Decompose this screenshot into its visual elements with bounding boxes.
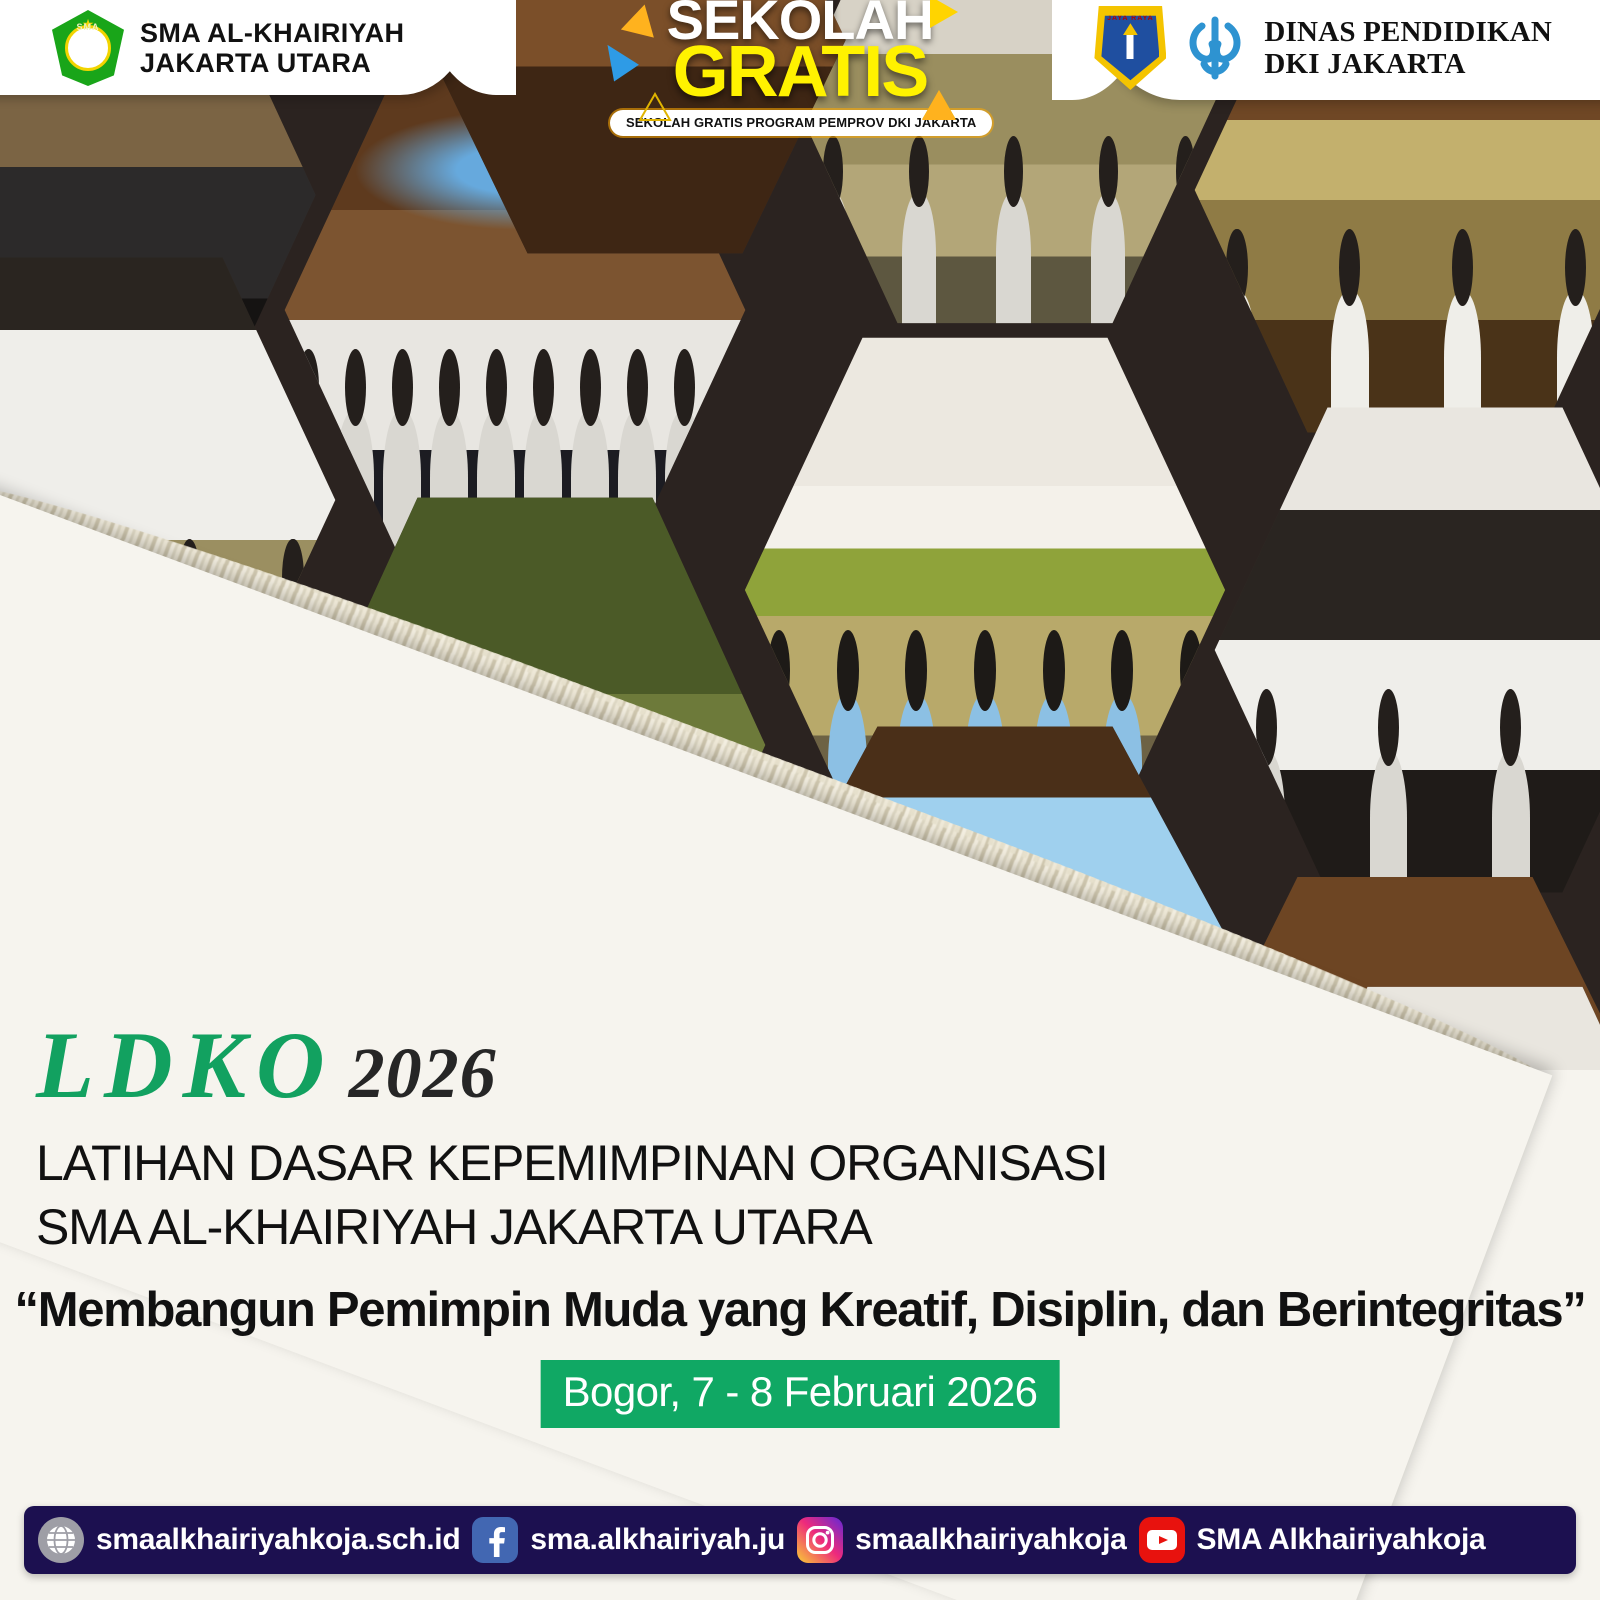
dki-shield-field: JAYA RAYA: [1101, 13, 1159, 83]
triangle-yellow-icon: [930, 0, 958, 28]
ldko-script-year: 2026: [349, 1033, 497, 1113]
facebook-label: sma.alkhairiyah.ju: [530, 1523, 785, 1557]
sekolah-gratis-lockup: SEKOLAH GRATIS SEKOLAH GRATIS PROGRAM PE…: [610, 0, 990, 136]
footer-item-website[interactable]: smaalkhairiyahkoja.sch.id: [38, 1517, 460, 1563]
event-subtitle-line2: SMA AL-KHAIRIYAH JAKARTA UTARA: [36, 1195, 1108, 1259]
ldko-script-text: LDKO: [36, 1012, 335, 1118]
instagram-icon: [797, 1517, 843, 1563]
school-name-line2: JAKARTA UTARA: [140, 48, 404, 78]
event-tagline: “Membangun Pemimpin Muda yang Kreatif, D…: [0, 1282, 1600, 1338]
event-script-title: LDKO2026: [36, 1018, 1108, 1113]
youtube-label: SMA Alkhairiyahkoja: [1197, 1523, 1486, 1557]
monas-icon: [1127, 31, 1134, 59]
people-silhouettes: [790, 109, 1220, 330]
dki-jakarta-emblem-icon: JAYA RAYA: [1094, 6, 1166, 90]
triangle-outline-left-icon: [638, 92, 672, 122]
triangle-outline-right-icon: [922, 90, 956, 120]
facebook-icon: [472, 1517, 518, 1563]
photo-collage: [0, 0, 1600, 1070]
event-subtitle-line1: LATIHAN DASAR KEPEMIMPINAN ORGANISASI: [36, 1131, 1108, 1195]
footer-social-bar: smaalkhairiyahkoja.sch.id sma.alkhairiya…: [24, 1506, 1576, 1574]
header-right: JAYA RAYA DINAS PENDIDIKAN DKI JAKARTA: [1094, 0, 1552, 96]
event-date-badge: Bogor, 7 - 8 Februari 2026: [541, 1360, 1060, 1428]
collage-tile-outdoor-formation: [300, 490, 770, 1000]
header-left-text: SMA AL-KHAIRIYAH JAKARTA UTARA: [140, 18, 404, 78]
school-name-line1: SMA AL-KHAIRIYAH: [140, 18, 404, 48]
students-writing-photo: [0, 250, 340, 750]
header-left: ★ SMA SMA AL-KHAIRIYAH JAKARTA UTARA: [52, 0, 404, 96]
outdoor-formation-photo: [300, 490, 770, 1000]
people-silhouettes: [1210, 660, 1600, 900]
globe-icon: [38, 1517, 84, 1563]
tut-wuri-handayani-icon: [1182, 12, 1248, 84]
school-shield-icon: ★ SMA: [52, 10, 124, 86]
shield-caption: SMA: [52, 22, 124, 32]
people-silhouettes: [0, 510, 340, 750]
title-block: LDKO2026 LATIHAN DASAR KEPEMIMPINAN ORGA…: [36, 1018, 1108, 1259]
people-silhouettes: [300, 755, 770, 1000]
footer-item-instagram[interactable]: smaalkhairiyahkoja: [797, 1517, 1126, 1563]
collage-tile-qna-microphone: [1210, 400, 1600, 900]
youtube-icon: [1139, 1517, 1185, 1563]
qna-microphone-photo: [1210, 400, 1600, 900]
collage-tile-students-writing: [0, 250, 340, 750]
dinas-line1: DINAS PENDIDIKAN: [1264, 16, 1552, 48]
instagram-label: smaalkhairiyahkoja: [855, 1523, 1126, 1557]
header-right-text: DINAS PENDIDIKAN DKI JAKARTA: [1264, 16, 1552, 81]
jaya-raya-label: JAYA RAYA: [1101, 15, 1159, 22]
poster-root: ★ SMA SMA AL-KHAIRIYAH JAKARTA UTARA JAY…: [0, 0, 1600, 1600]
footer-item-facebook[interactable]: sma.alkhairiyah.ju: [472, 1517, 785, 1563]
website-label: smaalkhairiyahkoja.sch.id: [96, 1523, 460, 1557]
people-silhouettes: [1190, 200, 1600, 440]
dinas-line2: DKI JAKARTA: [1264, 48, 1552, 80]
footer-item-youtube[interactable]: SMA Alkhairiyahkoja: [1139, 1517, 1486, 1563]
